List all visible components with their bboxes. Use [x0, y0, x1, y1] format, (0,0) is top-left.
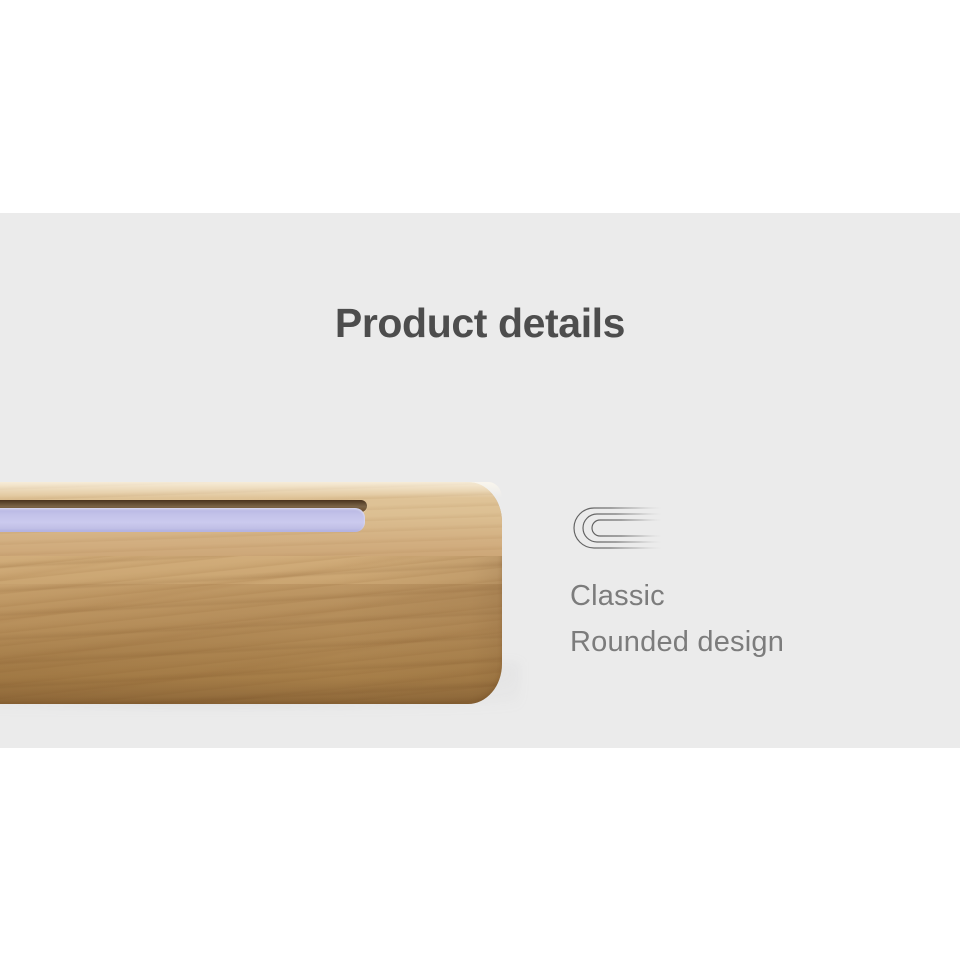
wood-top-face	[0, 482, 502, 556]
feature-callout: Classic Rounded design	[570, 505, 900, 665]
wood-top-chamfer	[0, 482, 502, 498]
rounded-capsule-lines-icon	[570, 505, 666, 551]
product-photo	[0, 430, 540, 748]
product-detail-page: Product details	[0, 0, 960, 960]
page-title: Product details	[0, 298, 960, 348]
acrylic-panel	[0, 508, 365, 532]
feature-line-2: Rounded design	[570, 619, 900, 665]
wood-grain-sweep	[0, 584, 502, 704]
wooden-base-block	[0, 482, 502, 704]
feature-line-1: Classic	[570, 573, 900, 619]
